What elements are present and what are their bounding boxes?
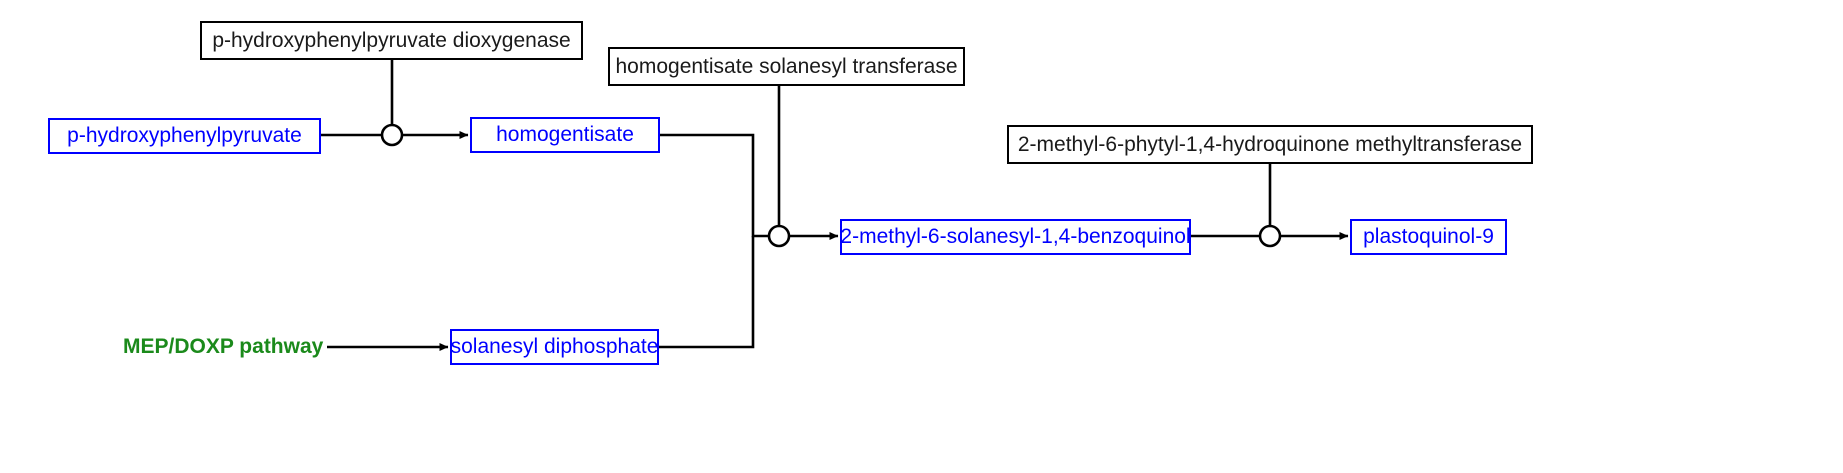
metabolite-label-2-methyl-6-solanesyl-1-4-benzoquinol: 2-methyl-6-solanesyl-1,4-benzoquinol (840, 225, 1190, 249)
reaction-node-mpbq[interactable] (1260, 226, 1280, 246)
metabolite-label-homogentisate: homogentisate (496, 123, 634, 147)
pathway-diagram: p-hydroxyphenylpyruvate dioxygenase homo… (0, 0, 1843, 473)
metabolite-node-2-methyl-6-solanesyl-1-4-benzoquinol[interactable]: 2-methyl-6-solanesyl-1,4-benzoquinol (840, 219, 1191, 255)
metabolite-node-plastoquinol-9[interactable]: plastoquinol-9 (1350, 219, 1507, 255)
enzyme-node-mpbq[interactable]: 2-methyl-6-phytyl-1,4-hydroquinone methy… (1007, 125, 1533, 164)
metabolite-node-solanesyl-diphosphate[interactable]: solanesyl diphosphate (450, 329, 659, 365)
enzyme-label-hppd: p-hydroxyphenylpyruvate dioxygenase (212, 29, 570, 53)
pathway-link-label-mep-doxp: MEP/DOXP pathway (123, 335, 323, 358)
enzyme-node-hppd[interactable]: p-hydroxyphenylpyruvate dioxygenase (200, 21, 583, 60)
metabolite-label-solanesyl-diphosphate: solanesyl diphosphate (451, 335, 659, 359)
enzyme-node-hst[interactable]: homogentisate solanesyl transferase (608, 47, 965, 86)
reaction-node-hst[interactable] (769, 226, 789, 246)
enzyme-label-hst: homogentisate solanesyl transferase (615, 55, 957, 79)
metabolite-node-homogentisate[interactable]: homogentisate (470, 117, 660, 153)
enzyme-label-mpbq: 2-methyl-6-phytyl-1,4-hydroquinone methy… (1018, 133, 1522, 157)
metabolite-node-p-hydroxyphenylpyruvate[interactable]: p-hydroxyphenylpyruvate (48, 118, 321, 154)
edge-homogentisate-to-reaction2 (660, 135, 769, 236)
pathway-link-mep-doxp[interactable]: MEP/DOXP pathway (123, 335, 323, 359)
metabolite-label-p-hydroxyphenylpyruvate: p-hydroxyphenylpyruvate (67, 124, 302, 148)
metabolite-label-plastoquinol-9: plastoquinol-9 (1363, 225, 1494, 249)
edge-sdp-to-reaction2 (659, 236, 753, 347)
reaction-node-hppd[interactable] (382, 125, 402, 145)
